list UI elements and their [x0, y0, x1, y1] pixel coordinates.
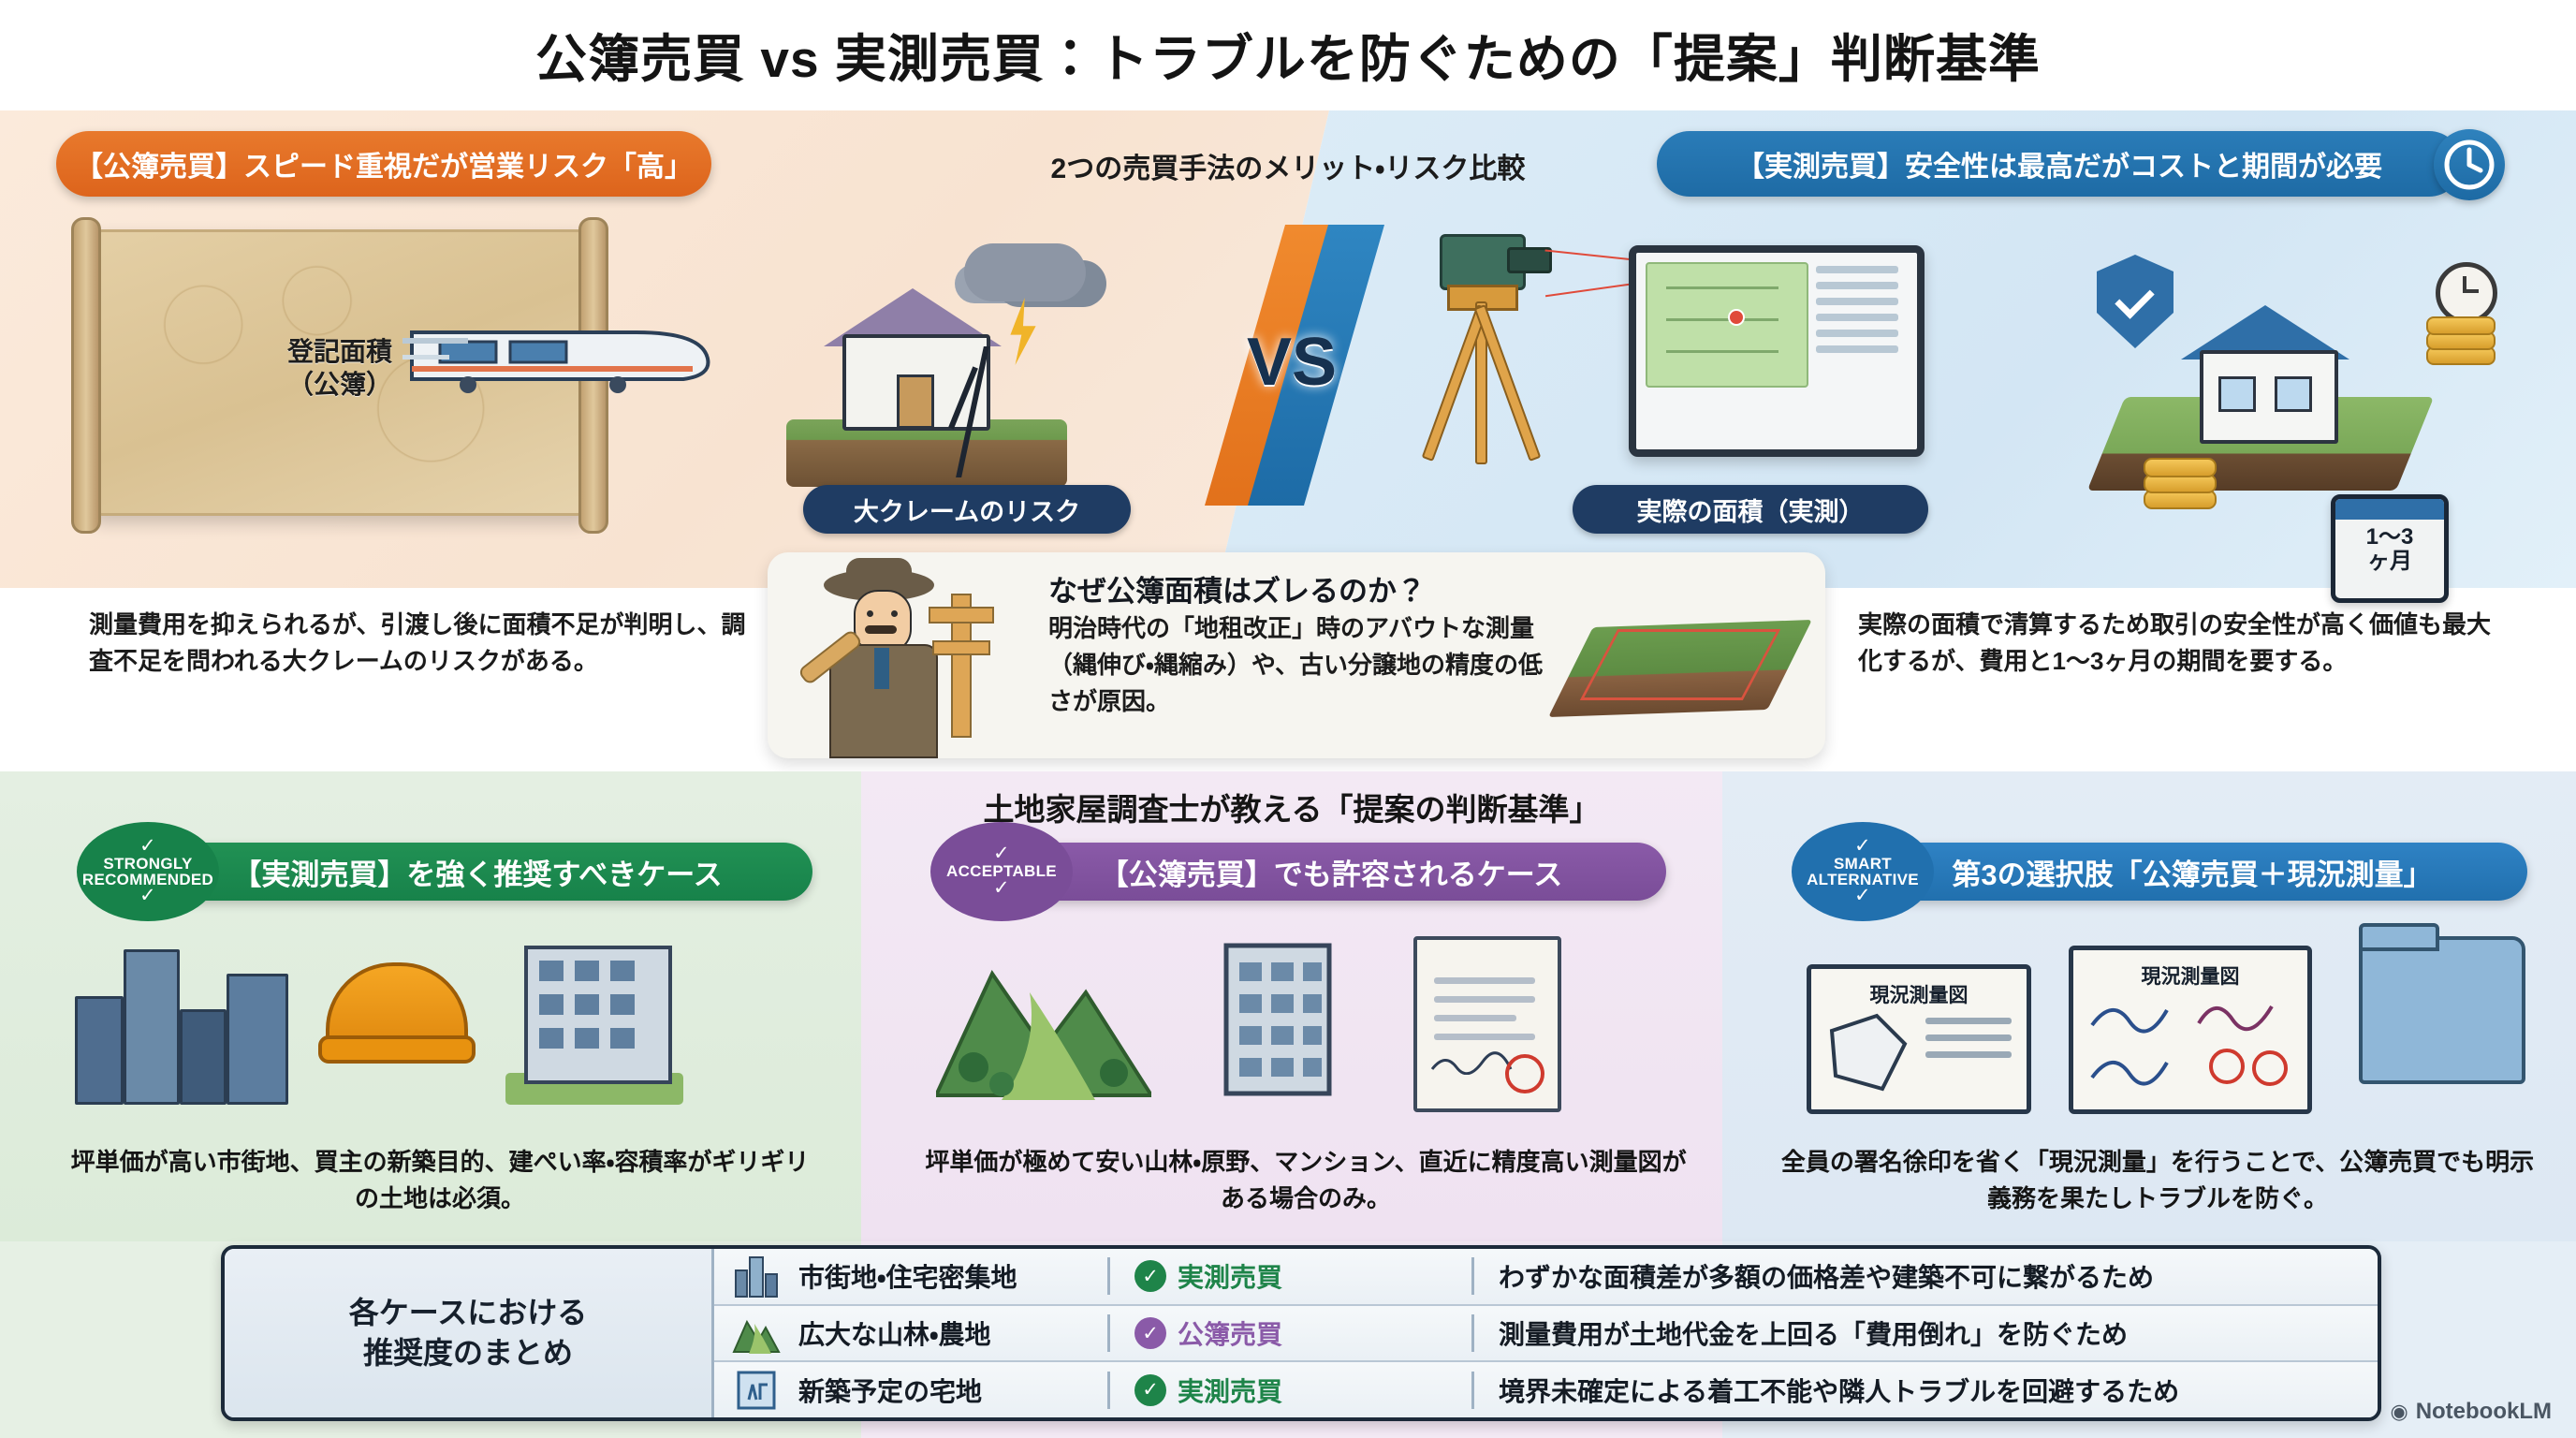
seal-line1: SMART — [1834, 856, 1892, 872]
check-icon: ✓ — [993, 845, 1010, 863]
city-icon — [714, 1254, 798, 1299]
moustache — [865, 625, 897, 634]
why-card-title: なぜ公簿面積はズレるのか？ — [1048, 567, 1426, 609]
signed-map-title: 現況測量図 — [2073, 961, 2307, 990]
koubo-caption: 測量費用を抑えられるが、引渡し後に面積不足が判明し、調査不足を問われる大クレーム… — [89, 607, 763, 680]
calendar-line1: 1〜3 — [2335, 525, 2444, 550]
tablet-map — [1646, 262, 1808, 388]
page-title: 公簿売買 vs 実測売買：トラブルを防ぐための「提案」判断基準 — [0, 17, 2576, 92]
office-building-icon — [505, 936, 683, 1105]
brand-watermark: ◉ NotebookLM — [2390, 1399, 2552, 1425]
old-tripod-icon — [927, 594, 992, 755]
reason-cell: わずかな面積差が多額の価格差や建築不可に繋がるため — [1471, 1257, 2378, 1295]
case-name: 市街地・住宅密集地 — [798, 1257, 1107, 1295]
scroll-label-line2: （公簿） — [287, 370, 392, 399]
house-door — [897, 374, 934, 429]
red-stamp-icon — [1505, 1054, 1544, 1093]
reason-cell: 境界未確定による着工不能や隣人トラブルを回避するため — [1471, 1372, 2378, 1409]
map-pin-icon — [1728, 309, 1745, 326]
eye — [891, 610, 898, 617]
koubo-badge: 【公簿売買】スピード重視だが営業リスク「高」 — [56, 131, 711, 197]
ribbon-acceptable[interactable]: ✓ ACCEPTABLE ✓ 【公簿売買】でも許容されるケース — [945, 843, 1666, 901]
versus-divider: VS — [1217, 281, 1367, 449]
notebook-icon: ◉ — [2390, 1400, 2408, 1424]
check-icon: ✓ — [139, 838, 156, 856]
check-icon: ✓ — [1134, 1374, 1166, 1406]
total-station-icon — [1395, 234, 1573, 477]
hard-hat-icon — [318, 957, 468, 1069]
check-icon: ✓ — [1134, 1260, 1166, 1292]
table-row: 広大な山林・農地 ✓ 公簿売買 測量費用が土地代金を上回る「費用倒れ」を防ぐため — [714, 1306, 2378, 1363]
tablet-survey-app — [1629, 245, 1925, 457]
case-purple-caption: 坪単価が極めて安い山林・原野、マンション、直近に精度高い測量図がある場合のみ。 — [922, 1144, 1690, 1217]
bullet-train-icon — [402, 314, 711, 394]
calendar-line2: ヶ月 — [2335, 550, 2444, 574]
seal-acceptable: ✓ ACCEPTABLE ✓ — [930, 822, 1073, 921]
folder-icon — [2359, 936, 2525, 1084]
calendar-text: 1〜3 ヶ月 — [2335, 520, 2444, 575]
survey-map-icon: 現況測量図 — [1807, 964, 2031, 1114]
check-icon: ✓ — [1134, 1317, 1166, 1349]
calendar-header — [2335, 499, 2444, 520]
mountain-icon — [714, 1311, 798, 1356]
land-plot-icon — [1573, 586, 1797, 726]
table-row: 市街地・住宅密集地 ✓ 実測売買 わずかな面積差が多額の価格差や建築不可に繋がる… — [714, 1249, 2378, 1306]
why-card-body: 明治時代の「地租改正」時のアバウトな測量（縄伸び・縄縮み）や、古い分譲地の精度の… — [1048, 610, 1554, 720]
summary-title-line1: 各ケースにおける — [349, 1293, 587, 1333]
case-name: 新築予定の宅地 — [798, 1372, 1107, 1409]
hat-crown — [846, 558, 912, 590]
jissoku-caption: 実際の面積で清算するため取引の安全性が高く価値も最大化するが、費用と1〜3ヶ月の… — [1858, 607, 2513, 680]
coin-stack-icon — [2144, 444, 2256, 509]
surveyor-icon — [788, 558, 985, 755]
recommendation-cell: ✓ 実測売買 — [1107, 1372, 1471, 1409]
survey-map-title: 現況測量図 — [1811, 980, 2027, 1008]
check-icon: ✓ — [1854, 838, 1871, 856]
case-green-caption: 坪単価が高い市街地、買主の新築目的、建ぺい率・容積率がギリギリの土地は必須。 — [66, 1144, 814, 1217]
recommendation-cell: ✓ 実測売買 — [1107, 1257, 1471, 1295]
seal-smart-alternative: ✓ SMART ALTERNATIVE ✓ — [1792, 822, 1934, 921]
city-skyline-icon — [75, 936, 290, 1105]
duration-calendar-icon: 1〜3 ヶ月 — [2331, 494, 2449, 603]
seal-line1: STRONGLY — [103, 856, 192, 872]
apartment-icon — [1198, 936, 1357, 1105]
house-window — [2218, 376, 2256, 412]
eye — [867, 610, 873, 617]
helmet-brim — [318, 1035, 476, 1064]
ribbon-smart-alternative[interactable]: ✓ SMART ALTERNATIVE ✓ 第3の選択肢「公簿売買＋現況測量」 — [1807, 843, 2527, 901]
summary-title-line2: 推奨度のまとめ — [349, 1333, 587, 1373]
shield-check-icon — [2097, 255, 2173, 348]
signed-survey-map-icon: 現況測量図 — [2069, 946, 2312, 1114]
recommendation-label: 公簿売買 — [1178, 1314, 1282, 1352]
tablet-data-lines — [1816, 266, 1898, 378]
why-discrepancy-card: なぜ公簿面積はズレるのか？ 明治時代の「地租改正」時のアバウトな測量（縄伸び・縄… — [768, 552, 1825, 758]
mountain-forest-icon — [936, 936, 1151, 1105]
reason-cell: 測量費用が土地代金を上回る「費用倒れ」を防ぐため — [1471, 1314, 2378, 1352]
brand-label: NotebookLM — [2416, 1399, 2552, 1425]
case-blue-caption: 全員の署名徐印を省く「現況測量」を行うことで、公簿売買でも明示義務を果たしトラブ… — [1778, 1144, 2537, 1217]
ribbon-strongly-recommended[interactable]: ✓ STRONGLY RECOMMENDED ✓ 【実測売買】を強く推奨すべきケ… — [92, 843, 812, 901]
recommendation-cell: ✓ 公簿売買 — [1107, 1314, 1471, 1352]
comparison-caption: 2つの売買手法のメリット・リスク比較 — [914, 145, 1662, 186]
blueprint-icon — [714, 1368, 798, 1413]
coin-stack-icon — [2426, 303, 2510, 365]
case-name: 広大な山林・農地 — [798, 1314, 1107, 1352]
clock-icon — [2434, 129, 2505, 200]
summary-table-title: 各ケースにおける 推奨度のまとめ — [225, 1249, 714, 1417]
risk-label: 大クレームのリスク — [803, 485, 1131, 534]
actual-area-label: 実際の面積（実測） — [1573, 485, 1928, 534]
house-window — [2275, 376, 2312, 412]
recommendation-label: 実測売買 — [1178, 1257, 1282, 1295]
check-icon: ✓ — [139, 888, 156, 905]
scroll-label-line1: 登記面積 — [287, 337, 392, 366]
recommendation-label: 実測売買 — [1178, 1372, 1282, 1409]
necktie — [874, 648, 889, 689]
document-stamp-icon — [1413, 936, 1561, 1112]
secure-property-illustration — [2003, 234, 2490, 515]
table-row: 新築予定の宅地 ✓ 実測売買 境界未確定による着工不能や隣人トラブルを回避するた… — [714, 1362, 2378, 1417]
vs-label: VS — [1217, 324, 1367, 401]
check-icon: ✓ — [1854, 888, 1871, 905]
infographic-canvas: 公簿売買 vs 実測売買：トラブルを防ぐための「提案」判断基準 【公簿売買】スピ… — [0, 0, 2576, 1438]
damaged-house-illustration — [786, 243, 1086, 487]
check-icon: ✓ — [993, 880, 1010, 898]
summary-table: 各ケースにおける 推奨度のまとめ 市街地・住宅密集地 ✓ 実測売買 — [221, 1245, 2381, 1421]
seal-strongly-recommended: ✓ STRONGLY RECOMMENDED ✓ — [77, 822, 219, 921]
building-body — [524, 946, 672, 1084]
summary-table-rows: 市街地・住宅密集地 ✓ 実測売買 わずかな面積差が多額の価格差や建築不可に繋がる… — [714, 1249, 2378, 1417]
jissoku-badge: 【実測売買】安全性は最高だがコストと期間が必要 — [1657, 131, 2462, 197]
